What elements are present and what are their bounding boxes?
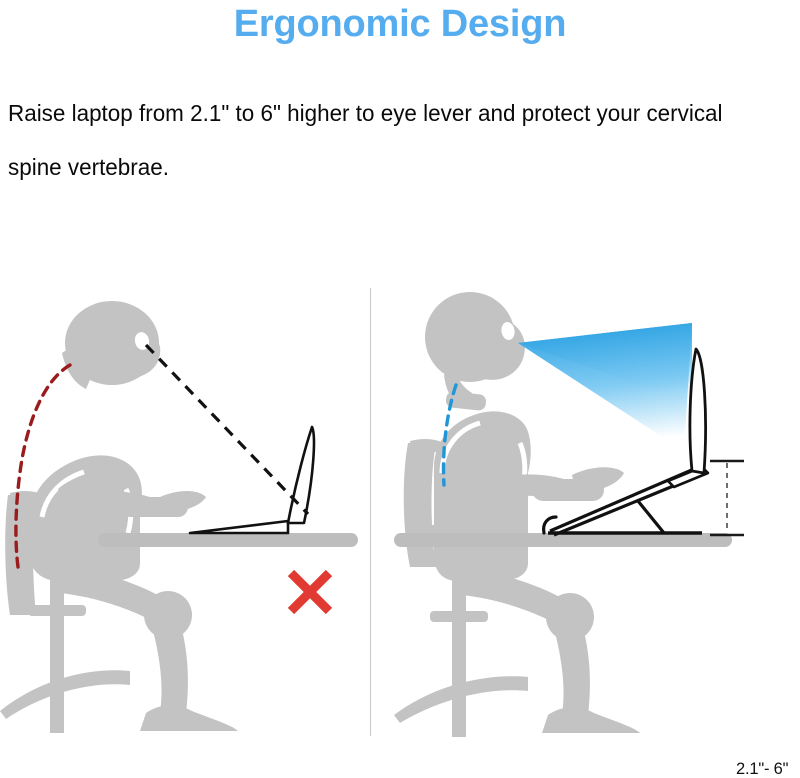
page-title: Ergonomic Design bbox=[0, 2, 800, 46]
bad-posture-scene bbox=[0, 275, 371, 738]
panel-good-posture bbox=[372, 275, 800, 738]
subtitle-text: Raise laptop from 2.1" to 6" higher to e… bbox=[8, 86, 757, 194]
cross-icon bbox=[285, 568, 335, 616]
measurement-label: 2.1"- 6" bbox=[736, 760, 788, 778]
panel-bad-posture bbox=[0, 275, 371, 738]
good-posture-scene bbox=[372, 275, 800, 738]
comparison-illustration: 2.1"- 6" bbox=[0, 275, 800, 738]
header: Ergonomic Design Raise laptop from 2.1" … bbox=[0, 0, 800, 200]
